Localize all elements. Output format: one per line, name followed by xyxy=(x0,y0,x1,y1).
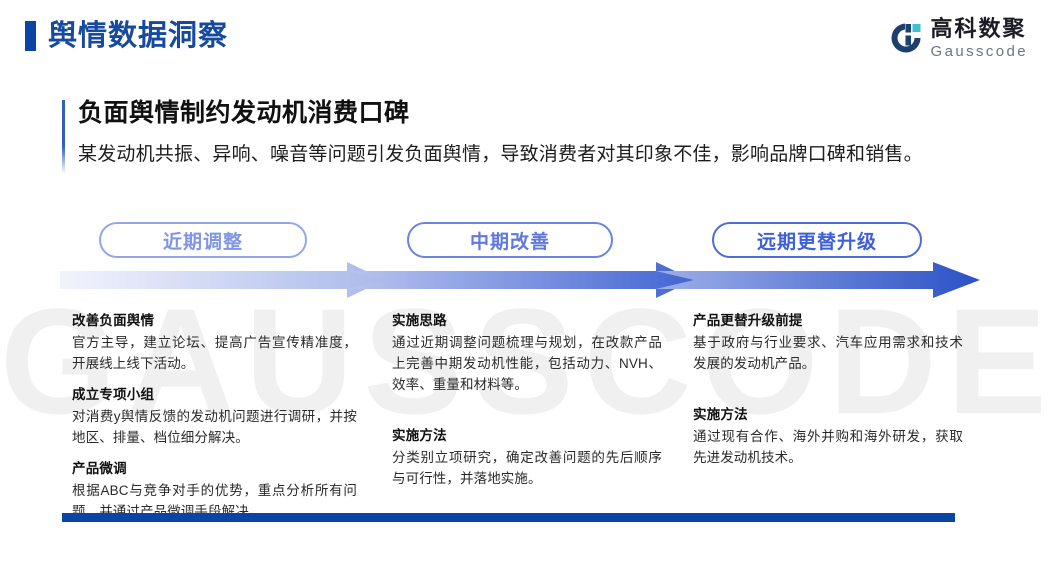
slide-header: 舆情数据洞察 高科数聚 Gausscode xyxy=(0,0,1050,74)
detail-block-body: 通过近期调整问题梳理与规划，在改款产品上完善中期发动机性能，包括动力、NVH、效… xyxy=(392,332,662,395)
detail-block: 成立专项小组 对消费y舆情反馈的发动机问题进行调研，并按地区、排量、档位细分解决… xyxy=(72,384,357,448)
header-accent-bar-icon xyxy=(25,21,36,51)
brand-name-en: Gausscode xyxy=(931,44,1028,59)
phase-pill-group: 近期调整 中期改善 远期更替升级 xyxy=(0,222,1050,260)
detail-block-title: 实施方法 xyxy=(392,425,662,446)
detail-block-title: 实施方法 xyxy=(693,404,963,425)
detail-column-long-term: 产品更替升级前提 基于政府与行业要求、汽车应用需求和技术发展的发动机产品。 实施… xyxy=(693,310,963,468)
detail-block: 改善负面舆情 官方主导，建立论坛、提高广告宣传精准度，开展线上线下活动。 xyxy=(72,310,357,374)
spacer xyxy=(392,405,662,425)
phase-pill-mid-term[interactable]: 中期改善 xyxy=(407,222,613,258)
lead-block: 负面舆情制约发动机消费口碑 某发动机共振、异响、噪音等问题引发负面舆情，导致消费… xyxy=(62,96,978,169)
detail-block-body: 官方主导，建立论坛、提高广告宣传精准度，开展线上线下活动。 xyxy=(72,332,357,374)
detail-block-body: 基于政府与行业要求、汽车应用需求和技术发展的发动机产品。 xyxy=(693,332,963,374)
timeline-arrow xyxy=(60,262,980,298)
footer-bar xyxy=(62,513,955,522)
detail-block-title: 成立专项小组 xyxy=(72,384,357,405)
lead-title: 负面舆情制约发动机消费口碑 xyxy=(78,96,978,130)
brand-logo-text: 高科数聚 Gausscode xyxy=(931,18,1028,59)
lead-subtitle: 某发动机共振、异响、噪音等问题引发负面舆情，导致消费者对其印象不佳，影响品牌口碑… xyxy=(78,141,978,169)
detail-block-title: 产品更替升级前提 xyxy=(693,310,963,331)
brand-logo: 高科数聚 Gausscode xyxy=(889,16,1028,60)
phase-pill-long-term[interactable]: 远期更替升级 xyxy=(712,222,922,258)
phase-pill-near-term[interactable]: 近期调整 xyxy=(99,222,307,258)
detail-block-title: 改善负面舆情 xyxy=(72,310,357,331)
detail-block: 实施方法 通过现有合作、海外并购和海外研发，获取先进发动机技术。 xyxy=(693,404,963,468)
detail-block: 实施方法 分类别立项研究，确定改善问题的先后顺序与可行性，并落地实施。 xyxy=(392,425,662,489)
detail-block: 产品更替升级前提 基于政府与行业要求、汽车应用需求和技术发展的发动机产品。 xyxy=(693,310,963,374)
page-title: 舆情数据洞察 xyxy=(48,16,228,56)
slide-canvas: GAUSSCODE 舆情数据洞察 高科数聚 Gausscode 负面舆情制约发动… xyxy=(0,0,1050,588)
gausscode-logo-icon xyxy=(889,21,923,55)
detail-block-body: 对消费y舆情反馈的发动机问题进行调研，并按地区、排量、档位细分解决。 xyxy=(72,406,357,448)
brand-name-cn: 高科数聚 xyxy=(931,18,1028,40)
detail-block-body: 分类别立项研究，确定改善问题的先后顺序与可行性，并落地实施。 xyxy=(392,447,662,489)
detail-block-title: 实施思路 xyxy=(392,310,662,331)
spacer xyxy=(693,384,963,404)
detail-block-body: 通过现有合作、海外并购和海外研发，获取先进发动机技术。 xyxy=(693,426,963,468)
detail-block-title: 产品微调 xyxy=(72,458,357,479)
detail-column-near-term: 改善负面舆情 官方主导，建立论坛、提高广告宣传精准度，开展线上线下活动。 成立专… xyxy=(72,310,357,522)
detail-column-mid-term: 实施思路 通过近期调整问题梳理与规划，在改款产品上完善中期发动机性能，包括动力、… xyxy=(392,310,662,489)
detail-block: 实施思路 通过近期调整问题梳理与规划，在改款产品上完善中期发动机性能，包括动力、… xyxy=(392,310,662,395)
detail-columns: 改善负面舆情 官方主导，建立论坛、提高广告宣传精准度，开展线上线下活动。 成立专… xyxy=(0,310,1050,500)
